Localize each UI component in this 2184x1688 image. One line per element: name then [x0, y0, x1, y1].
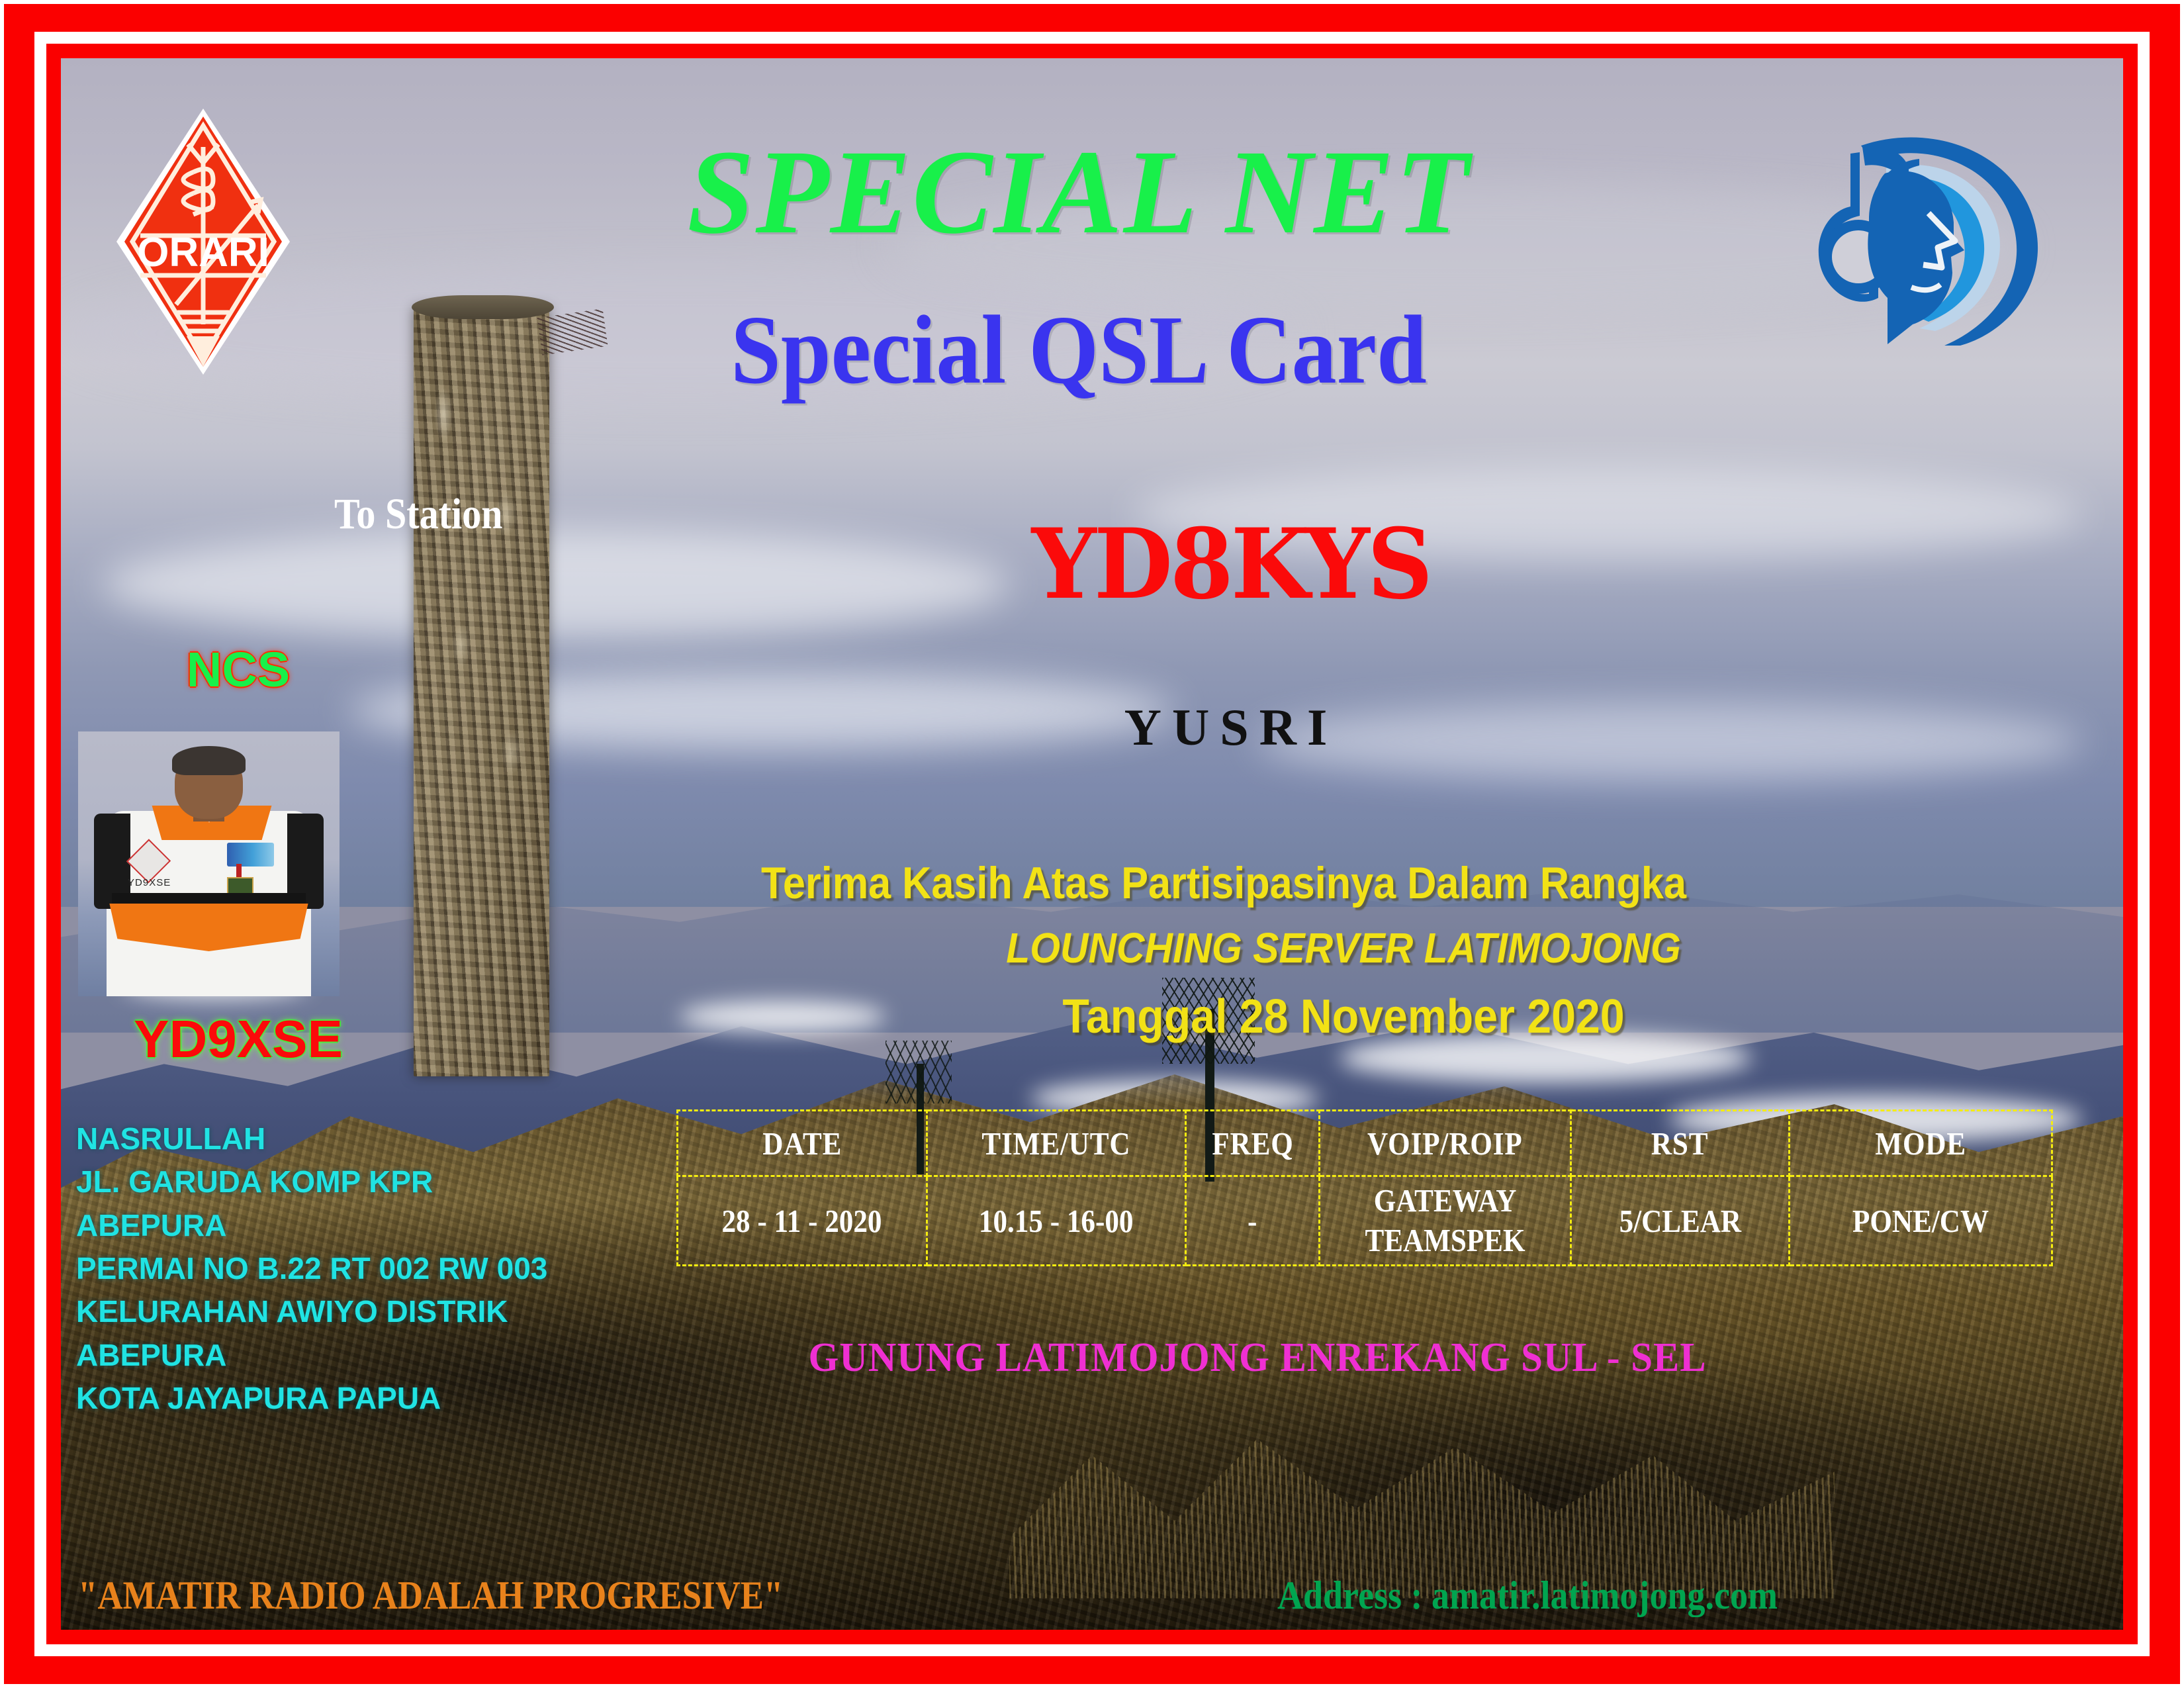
cell-rst: 5/CLEAR	[1619, 1202, 1741, 1240]
location-label: GUNUNG LATIMOJONG ENREKANG SUL - SEL	[660, 1337, 1855, 1378]
footer-web-address: Address : amatir.latimojong.com	[1277, 1575, 1778, 1615]
ncs-operator-photo: YD9XSE	[78, 731, 340, 996]
cloud-band	[102, 530, 1009, 639]
to-station-label: To Station	[334, 492, 502, 536]
footer-motto: "AMATIR RADIO ADALAH PROGRESIVE"	[78, 1575, 783, 1615]
column-header-freq: FREQ	[1212, 1125, 1293, 1162]
address-line: ABEPURA	[76, 1334, 632, 1377]
stone-cairn	[414, 306, 550, 1076]
cell-mode: PONE/CW	[1852, 1202, 1989, 1240]
cell-date: 28 - 11 - 2020	[722, 1202, 882, 1240]
operator-name: YUSRI	[913, 702, 1549, 753]
event-date: Tanggal 28 November 2020	[807, 993, 1879, 1041]
special-net-logo	[1787, 99, 2071, 357]
tree-branches	[886, 1041, 952, 1103]
address-line: KELURAHAN AWIYO DISTRIK	[76, 1290, 632, 1333]
qsl-card: ORARI SPECIAL NET Special QSL Card To St…	[0, 0, 2184, 1688]
cell-freq: -	[1248, 1202, 1257, 1240]
orari-logo: ORARI	[114, 106, 293, 377]
address-line: ABEPURA	[76, 1204, 632, 1247]
chest-logo-patch-icon	[227, 843, 274, 867]
ncs-callsign: YD9XSE	[79, 1013, 397, 1066]
address-line: NASRULLAH	[76, 1117, 632, 1160]
address-line: JL. GARUDA KOMP KPR	[76, 1160, 632, 1203]
column-header-mode: MODE	[1875, 1125, 1966, 1162]
sender-address: NASRULLAH JL. GARUDA KOMP KPR ABEPURA PE…	[76, 1117, 632, 1420]
column-header-date: DATE	[762, 1125, 842, 1162]
event-thanks-line: Terima Kasih Atas Partisipasinya Dalam R…	[761, 861, 1952, 906]
column-header-voip: VOIP/ROIP	[1367, 1125, 1523, 1162]
orari-logo-text: ORARI	[137, 230, 269, 275]
station-callsign: YD8KYS	[933, 516, 1529, 613]
qso-details-table: DATE TIME/UTC FREQ VOIP/ROIP RST MODE 28…	[676, 1109, 2053, 1266]
photo-embroidered-callsign: YD9XSE	[128, 877, 171, 888]
column-header-rst: RST	[1651, 1125, 1709, 1162]
column-header-time: TIME/UTC	[982, 1125, 1131, 1162]
cell-voip-line1: GATEWAY	[1374, 1181, 1517, 1221]
page-title: SPECIAL NET	[437, 132, 1721, 253]
table-header-row: DATE TIME/UTC FREQ VOIP/ROIP RST MODE	[678, 1111, 2052, 1176]
hair	[172, 746, 246, 775]
cell-time: 10.15 - 16-00	[979, 1202, 1134, 1240]
table-row: 28 - 11 - 2020 10.15 - 16-00 - GATEWAY T…	[678, 1176, 2052, 1266]
page-subtitle: Special QSL Card	[488, 301, 1670, 399]
event-title: LOUNCHING SERVER LATIMOJONG	[807, 927, 1879, 969]
cell-voip-line2: TEAMSPEK	[1365, 1221, 1525, 1260]
ncs-label: NCS	[136, 645, 341, 694]
address-line: PERMAI NO B.22 RT 002 RW 003	[76, 1247, 632, 1290]
address-line: KOTA JAYAPURA PAPUA	[76, 1377, 632, 1420]
